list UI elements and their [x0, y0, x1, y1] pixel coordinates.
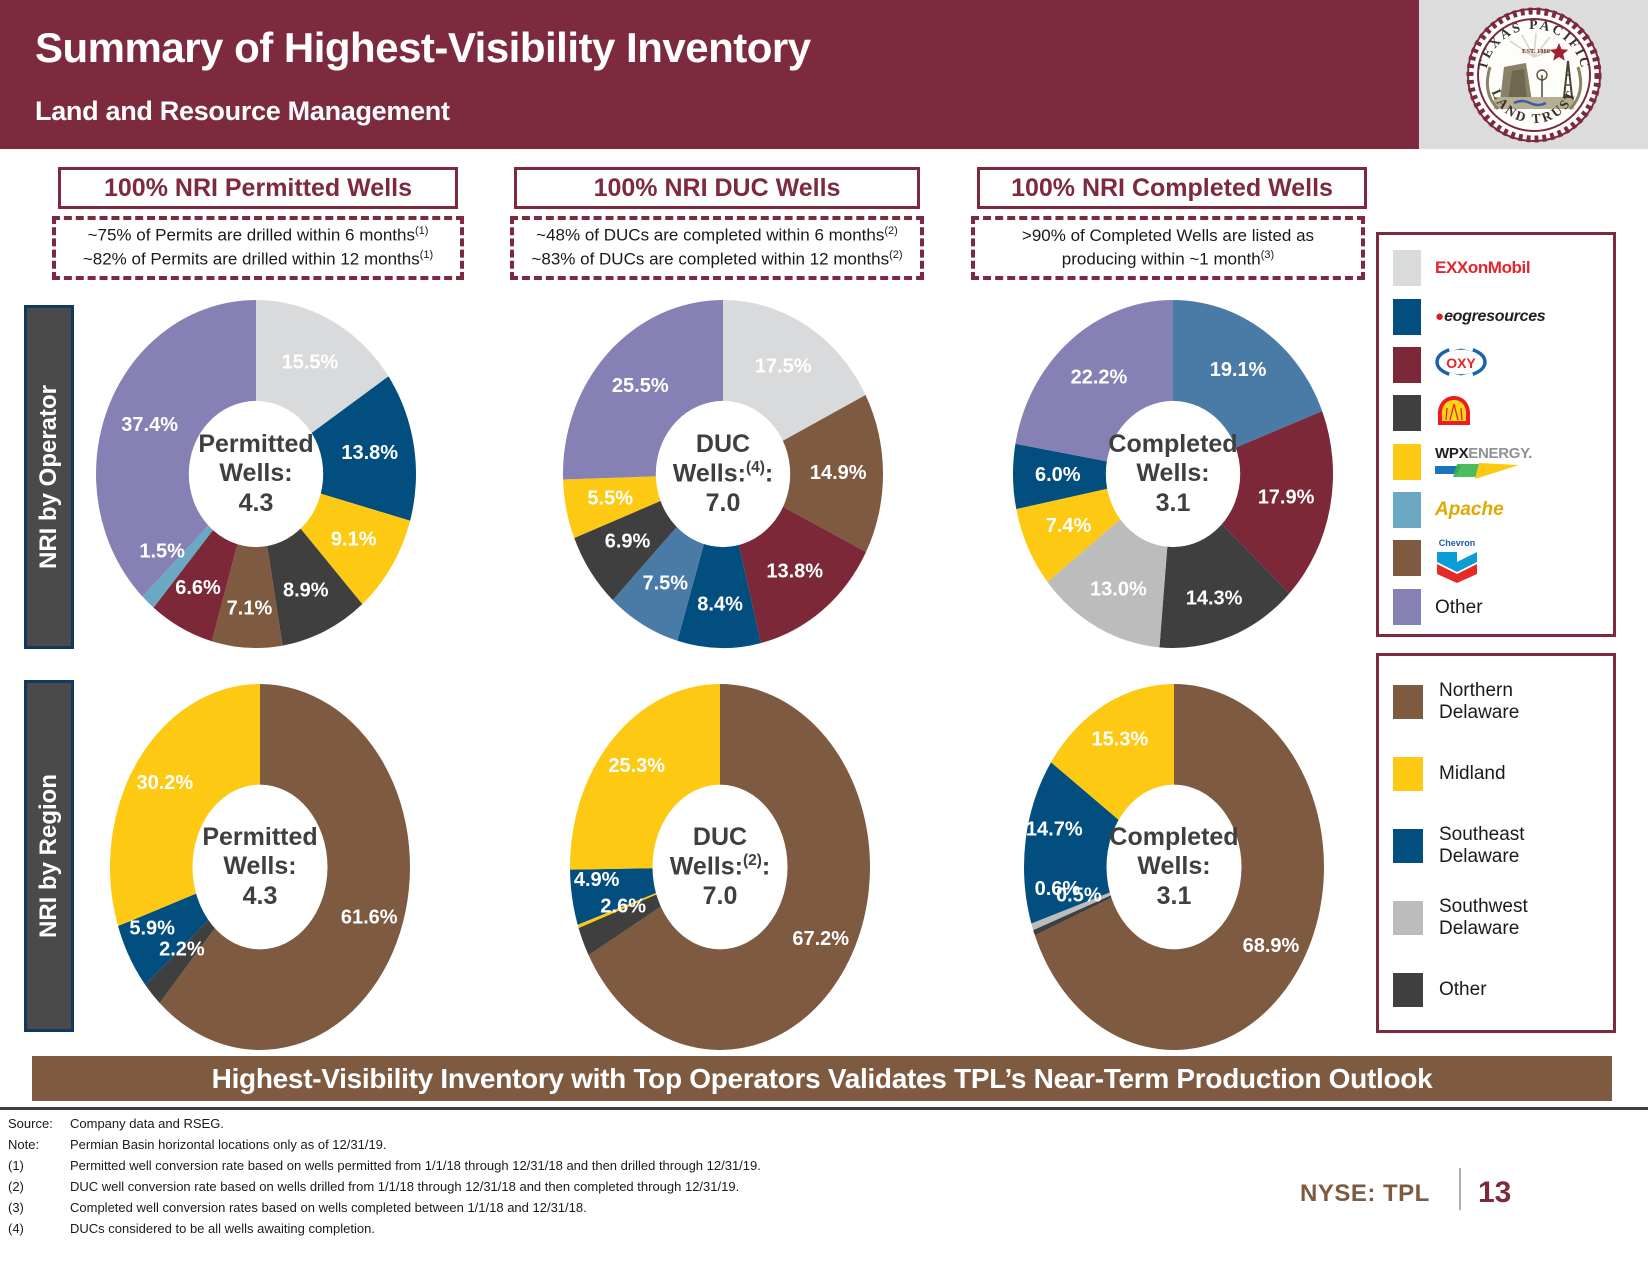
- legend-item-exxonmobil[interactable]: EXXonMobil: [1393, 244, 1603, 292]
- slice-label: 6.6%: [175, 577, 221, 599]
- donut-duc-by-operator: 17.5%14.9%13.8%8.4%7.5%6.9%5.5%25.5%DUCW…: [563, 300, 883, 648]
- footnote-key: (2): [8, 1176, 70, 1197]
- slice-label: 68.9%: [1243, 935, 1300, 957]
- legend-label: Other: [1439, 979, 1487, 1001]
- slice-label: 9.1%: [331, 529, 377, 551]
- slice-label: 14.9%: [810, 462, 867, 484]
- slice-label: 17.5%: [755, 355, 812, 377]
- slice-label: 4.9%: [574, 869, 620, 891]
- slice-label: 25.5%: [612, 375, 669, 397]
- legend-brand: OXY: [1435, 345, 1487, 384]
- slice-label: 17.9%: [1258, 486, 1315, 508]
- operator-legend: EXXonMobil●eogresourcesOXYWPXENERGY.Apac…: [1376, 232, 1616, 637]
- footnote-text: DUC well conversion rate based on wells …: [70, 1176, 739, 1197]
- donut-hole: [193, 785, 328, 950]
- slice-label: 2.2%: [159, 939, 205, 961]
- legend-label: Midland: [1439, 763, 1506, 785]
- footnotes-block: Source:Company data and RSEG.Note:Permia…: [8, 1113, 1308, 1239]
- slice-label: 13.8%: [341, 442, 398, 464]
- slice-label: 61.6%: [341, 906, 398, 928]
- legend-brand: Chevron: [1435, 533, 1479, 584]
- slice-label: 14.7%: [1026, 818, 1083, 840]
- donut-permitted-by-operator: 15.5%13.8%9.1%8.9%7.1%6.6%1.5%37.4%Permi…: [96, 300, 416, 648]
- slice-label: 7.5%: [642, 573, 688, 595]
- footnote-text: Company data and RSEG.: [70, 1113, 224, 1134]
- legend-swatch: [1393, 540, 1421, 576]
- legend-item-midland[interactable]: Midland: [1393, 738, 1603, 810]
- exxonmobil-logo: EXXonMobil: [1435, 258, 1530, 277]
- slice-label: 19.1%: [1210, 359, 1267, 381]
- slice-label: 67.2%: [792, 928, 849, 950]
- footnote-text: Permian Basin horizontal locations only …: [70, 1134, 387, 1155]
- legend-label: Northern Delaware: [1439, 680, 1519, 724]
- footnote-key: (4): [8, 1218, 70, 1239]
- ticker-label: NYSE: TPL: [1300, 1180, 1430, 1208]
- slice-label: 8.9%: [283, 579, 329, 601]
- footnote-row: (4)DUCs considered to be all wells await…: [8, 1218, 1308, 1239]
- slice-label: 25.3%: [608, 755, 665, 777]
- legend-item-other[interactable]: Other: [1393, 583, 1603, 631]
- page-number-divider: [1459, 1168, 1461, 1210]
- donut-hole: [653, 785, 788, 950]
- legend-item-oxy[interactable]: OXY: [1393, 341, 1603, 389]
- footnote-row: Source:Company data and RSEG.: [8, 1113, 1308, 1134]
- legend-swatch: [1393, 299, 1421, 335]
- column-note-completed: >90% of Completed Wells are listed as pr…: [971, 216, 1365, 280]
- legend-label: Other: [1435, 597, 1483, 618]
- slice-label: 6.0%: [1035, 464, 1081, 486]
- footnote-text: Permitted well conversion rate based on …: [70, 1155, 761, 1176]
- donut-hole: [656, 401, 790, 547]
- region-legend: Northern DelawareMidlandSoutheast Delawa…: [1376, 653, 1616, 1033]
- legend-label: Southwest Delaware: [1439, 896, 1528, 940]
- legend-brand: EXXonMobil: [1435, 259, 1530, 278]
- legend-brand: WPXENERGY.: [1435, 445, 1532, 479]
- column-note-permitted: ~75% of Permits are drilled within 6 mon…: [52, 216, 464, 280]
- legend-item-wpxenergy-[interactable]: WPXENERGY.: [1393, 438, 1603, 486]
- legend-swatch: [1393, 492, 1421, 528]
- footnote-key: (3): [8, 1197, 70, 1218]
- legend-item-southeast-delaware[interactable]: Southeast Delaware: [1393, 810, 1603, 882]
- legend-swatch: [1393, 395, 1421, 431]
- donut-duc-by-region: 67.2%2.6%4.9%25.3%DUCWells:(2):7.0: [570, 684, 870, 1050]
- slice-label: 5.5%: [587, 488, 633, 510]
- legend-item-northern-delaware[interactable]: Northern Delaware: [1393, 666, 1603, 738]
- legend-brand: ●eogresources: [1435, 308, 1545, 326]
- eog-logo: ●eogresources: [1435, 308, 1545, 325]
- legend-brand: Apache: [1435, 500, 1504, 520]
- slice-label: 1.5%: [139, 541, 185, 563]
- slice-label: 0.6%: [1035, 878, 1081, 900]
- apache-logo: Apache: [1435, 499, 1504, 520]
- donut-permitted-by-region: 61.6%2.2%5.9%30.2%PermittedWells:4.3: [110, 684, 410, 1050]
- slice-label: 5.9%: [129, 917, 175, 939]
- logo-est-text: EST. 1888: [1522, 48, 1551, 55]
- footnote-row: Note:Permian Basin horizontal locations …: [8, 1134, 1308, 1155]
- oxy-logo: OXY: [1435, 345, 1487, 379]
- column-title-completed: 100% NRI Completed Wells: [977, 167, 1367, 209]
- legend-item-chevron[interactable]: Chevron: [1393, 534, 1603, 582]
- legend-item-apache[interactable]: Apache: [1393, 486, 1603, 534]
- footnote-text: DUCs considered to be all wells awaiting…: [70, 1218, 375, 1239]
- footnote-text: Completed well conversion rates based on…: [70, 1197, 587, 1218]
- donut-hole: [189, 401, 323, 547]
- footnote-row: (1)Permitted well conversion rate based …: [8, 1155, 1308, 1176]
- footnote-row: (2)DUC well conversion rate based on wel…: [8, 1176, 1308, 1197]
- footnote-row: (3)Completed well conversion rates based…: [8, 1197, 1308, 1218]
- shell-logo: [1435, 415, 1473, 432]
- legend-brand: Other: [1435, 595, 1483, 619]
- legend-swatch: [1393, 685, 1423, 719]
- footnote-key: Note:: [8, 1134, 70, 1155]
- legend-label: Southeast Delaware: [1439, 824, 1525, 868]
- page-title: Summary of Highest-Visibility Inventory: [35, 24, 811, 72]
- texas-pacific-land-trust-logo: TEXAS PACIFIC LAND TRUST EST. 1888: [1464, 5, 1604, 145]
- legend-swatch: [1393, 347, 1421, 383]
- legend-item-other[interactable]: Other: [1393, 954, 1603, 1026]
- legend-swatch: [1393, 973, 1423, 1007]
- slice-label: 2.6%: [600, 896, 646, 918]
- sidebar-item-nri-by-region[interactable]: NRI by Region: [24, 680, 74, 1032]
- legend-swatch: [1393, 589, 1421, 625]
- legend-swatch: [1393, 757, 1423, 791]
- slice-label: 8.4%: [697, 594, 743, 616]
- slice-label: 30.2%: [136, 772, 193, 794]
- legend-item-shell[interactable]: [1393, 389, 1603, 437]
- legend-swatch: [1393, 901, 1423, 935]
- page-subtitle: Land and Resource Management: [35, 96, 450, 127]
- column-title-duc: 100% NRI DUC Wells: [514, 167, 920, 209]
- slice-label: 13.8%: [766, 560, 823, 582]
- logo-panel: TEXAS PACIFIC LAND TRUST EST. 1888: [1419, 0, 1648, 149]
- wpx-energy-logo: WPXENERGY.: [1435, 446, 1532, 479]
- slice-label: 7.1%: [227, 597, 273, 619]
- legend-swatch: [1393, 250, 1421, 286]
- summary-banner: Highest-Visibility Inventory with Top Op…: [32, 1056, 1612, 1101]
- footnote-key: Source:: [8, 1113, 70, 1134]
- slice-label: 7.4%: [1046, 515, 1092, 537]
- footnote-key: (1): [8, 1155, 70, 1176]
- page-number: 13: [1478, 1176, 1511, 1210]
- sidebar-item-nri-by-operator[interactable]: NRI by Operator: [24, 305, 74, 649]
- column-note-duc: ~48% of DUCs are completed within 6 mont…: [510, 216, 924, 280]
- legend-item-eogresources[interactable]: ●eogresources: [1393, 292, 1603, 340]
- footer-divider: [0, 1107, 1648, 1110]
- slice-label: 13.0%: [1090, 579, 1147, 601]
- slice-label: 15.3%: [1092, 729, 1149, 751]
- column-title-permitted: 100% NRI Permitted Wells: [58, 167, 458, 209]
- legend-item-southwest-delaware[interactable]: Southwest Delaware: [1393, 882, 1603, 954]
- header-bar: Summary of Highest-Visibility Inventory …: [0, 0, 1419, 149]
- slice-label: 6.9%: [605, 530, 651, 552]
- donut-hole: [1107, 785, 1242, 950]
- legend-swatch: [1393, 444, 1421, 480]
- slice-label: 15.5%: [282, 352, 339, 374]
- donut-completed-by-operator: 19.1%17.9%14.3%13.0%7.4%6.0%22.2%Complet…: [1013, 300, 1333, 648]
- svg-text:OXY: OXY: [1446, 355, 1476, 371]
- slice-label: 37.4%: [121, 414, 178, 436]
- donut-hole: [1106, 401, 1240, 547]
- chevron-logo: Chevron: [1435, 534, 1479, 584]
- slice-label: 22.2%: [1071, 366, 1128, 388]
- donut-completed-by-region: 68.9%0.5%0.6%14.7%15.3%CompletedWells:3.…: [1024, 684, 1324, 1050]
- legend-brand: [1435, 394, 1473, 433]
- slice-label: 14.3%: [1186, 587, 1243, 609]
- legend-swatch: [1393, 829, 1423, 863]
